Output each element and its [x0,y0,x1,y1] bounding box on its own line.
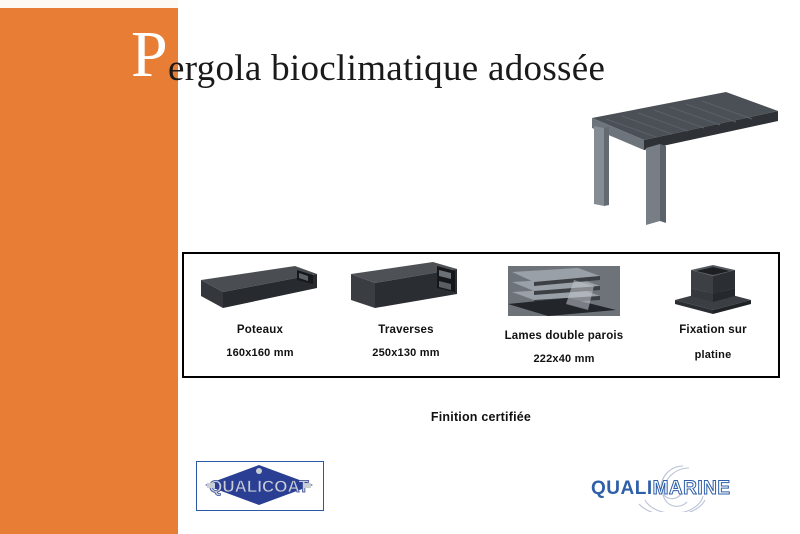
product-dimensions: 250x130 mm [336,347,476,359]
aluminium-beam-photo [336,254,476,316]
certification-label: Finition certifiée [182,410,780,424]
product-item-lames: Lames double parois 222x40 mm [484,254,644,380]
qualimarine-text-quali: QUALI [591,478,653,499]
poster-page: Résistance au vent 167 km/h Evacuation d… [0,0,800,534]
top-cream-strip [0,0,178,8]
product-name: Fixation sur [648,324,778,336]
product-name: Lames double parois [484,330,644,342]
qualimarine-wordmark: QUALIMARINE [591,478,731,500]
product-item-traverses: Traverses 250x130 mm [336,254,476,380]
product-dimensions: 222x40 mm [484,353,644,365]
page-title-text: ergola bioclimatique adossée [168,48,605,90]
product-spec-box: Poteaux 160x160 mm Traverses 250x130 mm [182,252,780,378]
product-dimensions: 160x160 mm [190,347,330,359]
product-name: Poteaux [190,324,330,336]
pergola-photo [566,78,788,228]
qualimarine-text-marine: MARINE [653,478,731,499]
product-name: Traverses [336,324,476,336]
sidebar-panel [0,0,178,534]
product-item-poteaux: Poteaux 160x160 mm [190,254,330,380]
product-dimensions: platine [648,349,778,361]
double-wall-blade-photo [484,254,644,316]
qualimarine-logo: QUALIMARINE [585,462,735,512]
product-item-fixation: Fixation sur platine [648,254,778,380]
base-plate-photo [648,254,778,316]
qualicoat-logo: QUALICOAT [196,461,324,511]
svg-text:QUALICOAT: QUALICOAT [209,477,309,496]
aluminium-post-photo [190,254,330,316]
